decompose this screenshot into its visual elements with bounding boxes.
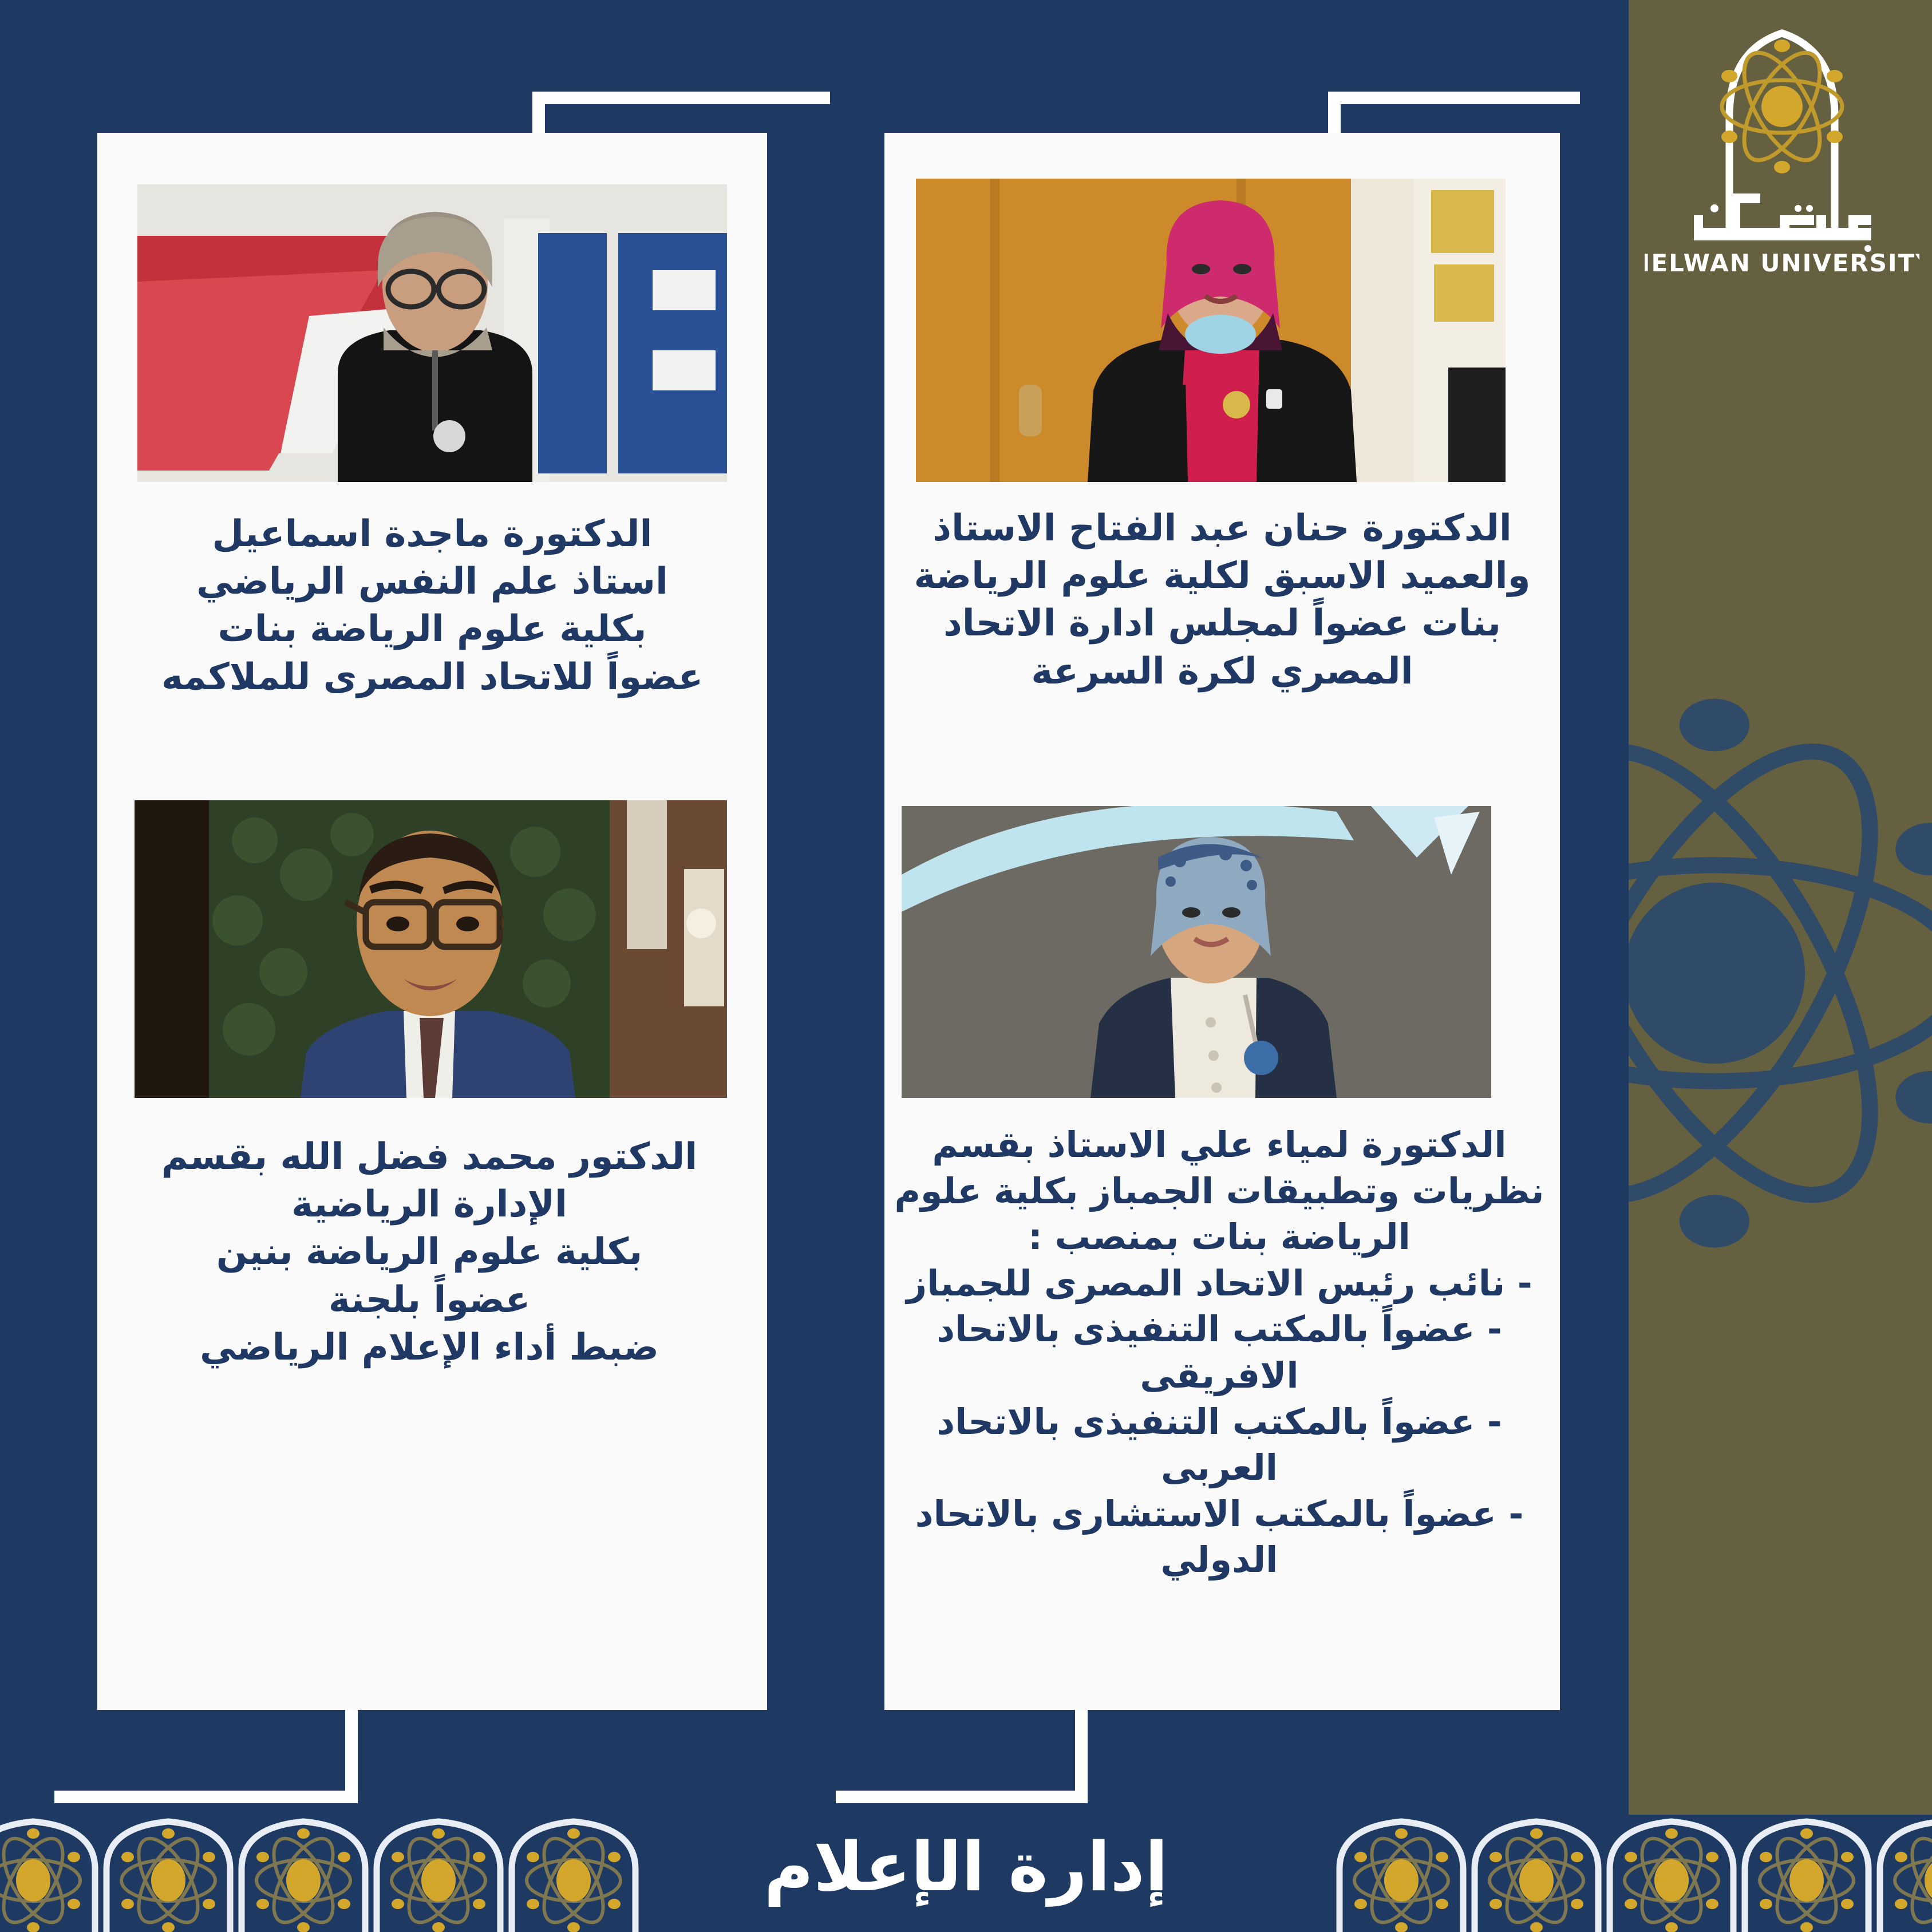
caption-mohamed-fadlallah: الدكتور محمد فضل الله بقسم الإدارة الريا… bbox=[117, 1133, 741, 1372]
portrait-majda-ismail bbox=[137, 184, 727, 482]
logo-graphic: HELWAN UNIVERSITY bbox=[1645, 16, 1919, 285]
portrait-mohamed-fadlallah bbox=[135, 800, 727, 1098]
atom-watermark-icon bbox=[1629, 681, 1932, 1265]
portrait-hanan-abdelfattah bbox=[916, 179, 1506, 482]
footer-title: إدارة الإعلام bbox=[0, 1827, 1932, 1906]
caption-majda-ismail: الدكتورة ماجدة اسماعيل استاذ علم النفس ا… bbox=[120, 511, 744, 701]
footer-bar: إدارة الإعلام bbox=[0, 1815, 1932, 1932]
caption-lamiaa-ali: الدكتورة لمياء علي الاستاذ بقسم نظريات و… bbox=[890, 1122, 1548, 1583]
logo-english-name: HELWAN UNIVERSITY bbox=[1645, 249, 1919, 277]
caption-hanan-abdelfattah: الدكتورة حنان عبد الفتاح الاستاذ والعميد… bbox=[904, 505, 1540, 696]
helwan-university-logo: HELWAN UNIVERSITY bbox=[1645, 16, 1919, 285]
portrait-lamiaa-ali bbox=[902, 806, 1491, 1098]
poster-root: HELWAN UNIVERSITY bbox=[0, 0, 1932, 1932]
